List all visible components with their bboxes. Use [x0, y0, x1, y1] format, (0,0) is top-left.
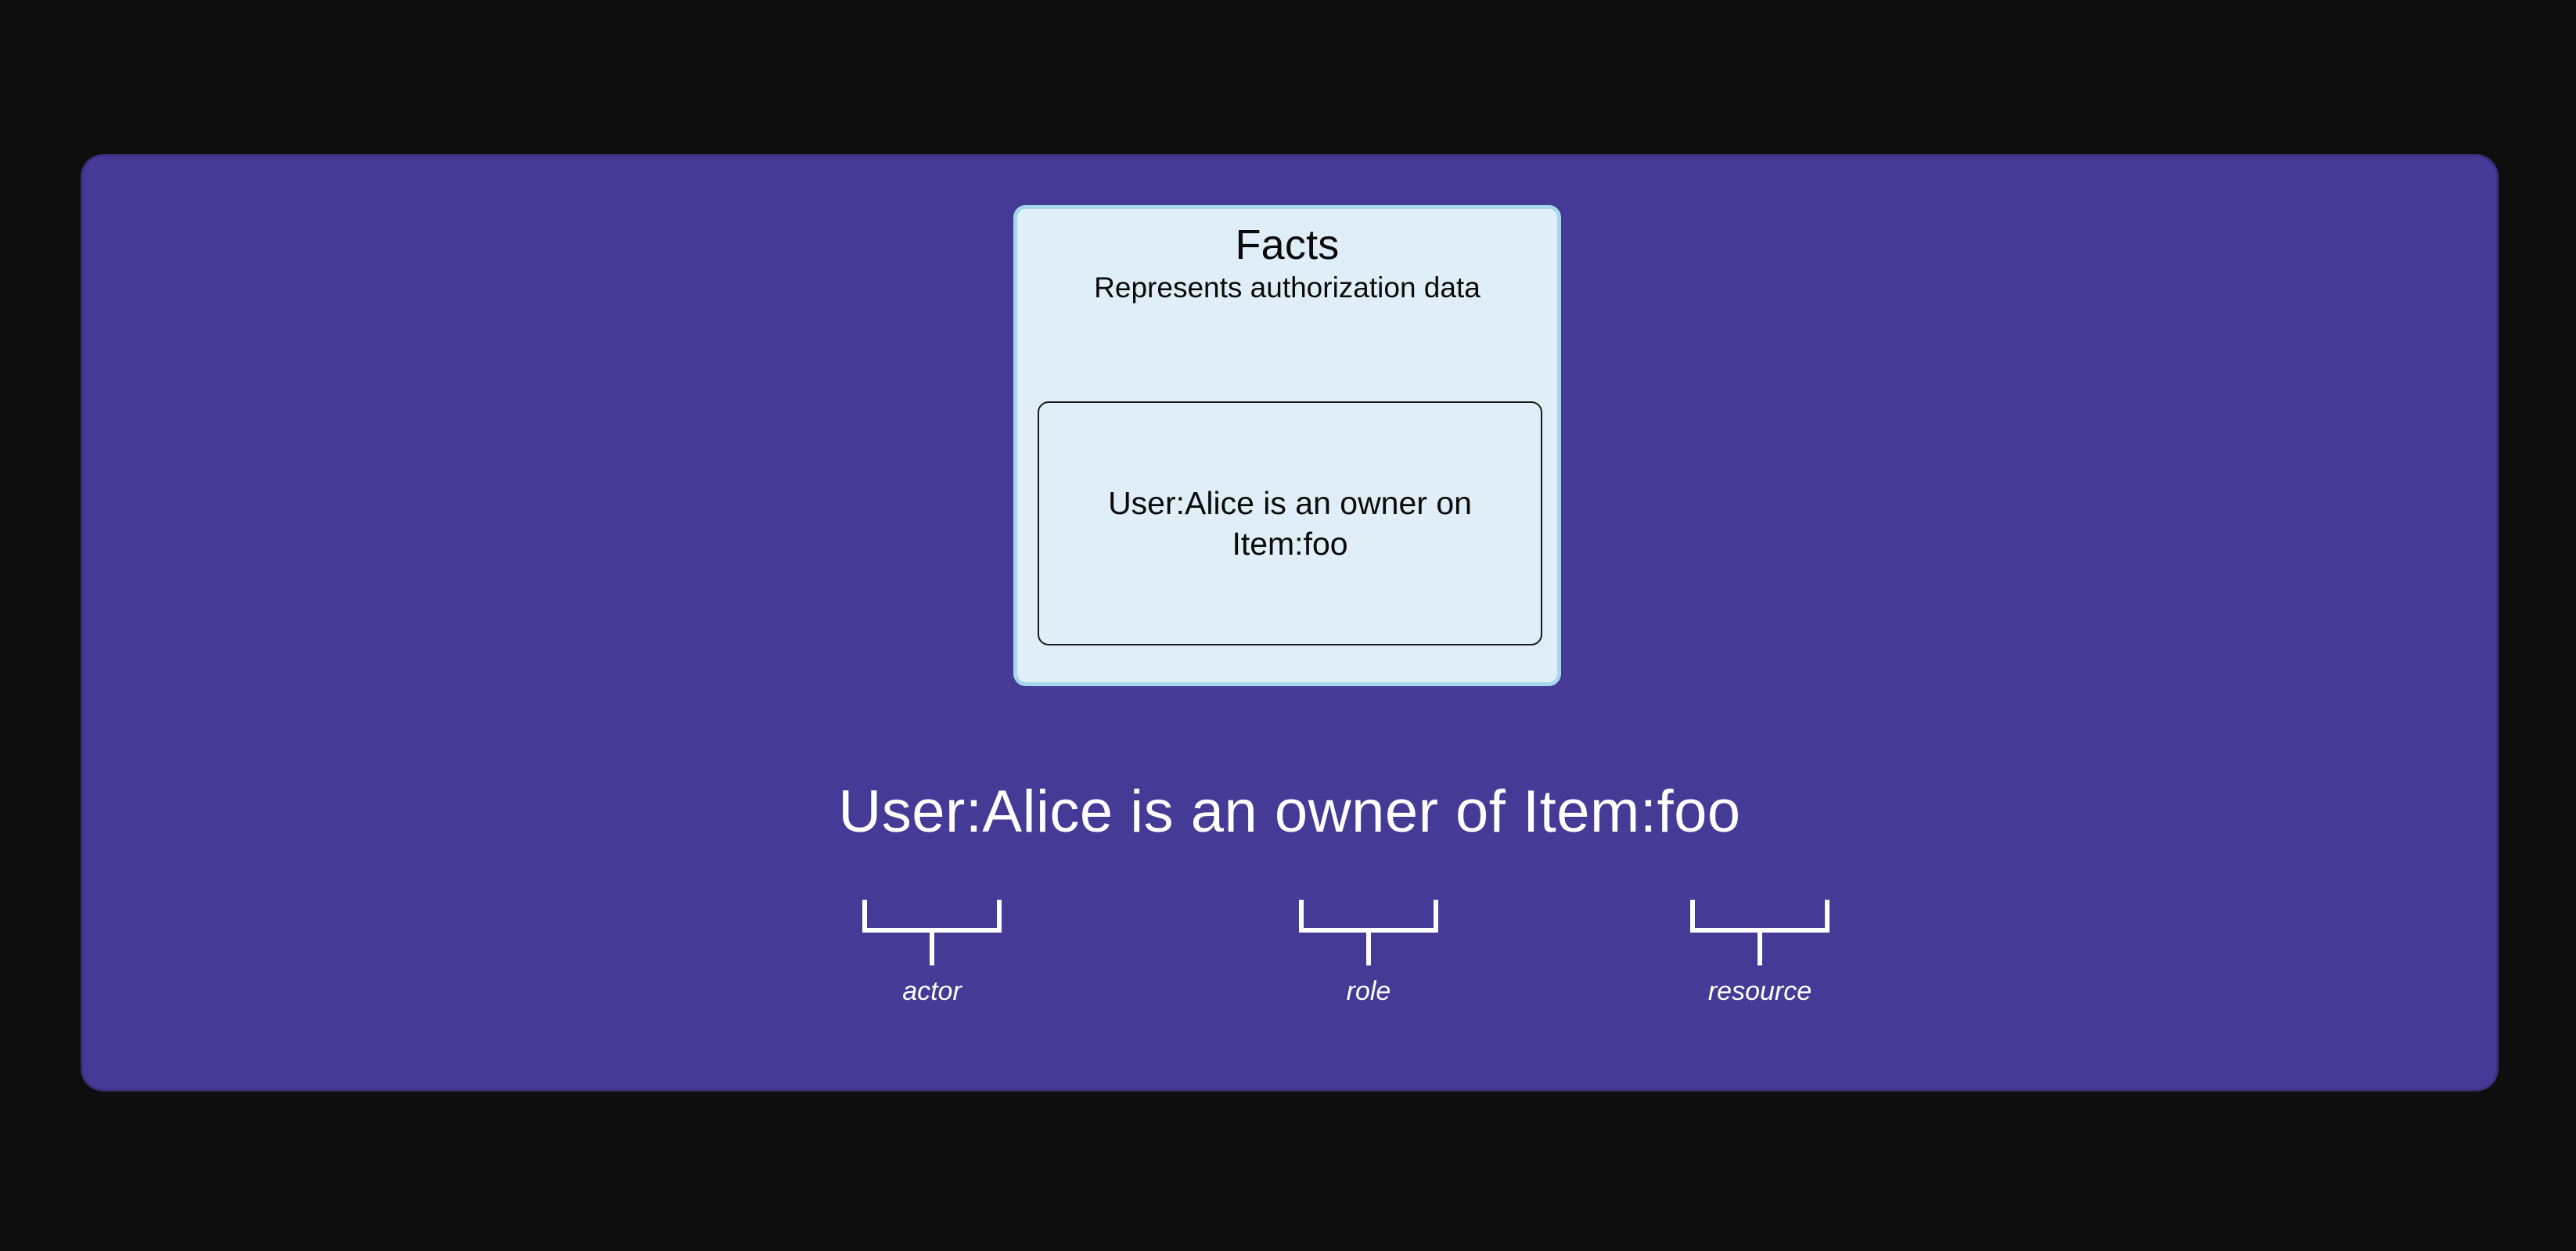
fact-example-box: User:Alice is an owner on Item:foo: [1038, 401, 1542, 645]
annotation-resource: resource: [1690, 900, 1829, 1005]
annotated-sentence: User:Alice is an owner of Item:foo: [83, 782, 2496, 842]
diagram-canvas: Facts Represents authorization data User…: [0, 0, 2576, 1251]
annotation-label-role: role: [1299, 978, 1438, 1005]
fact-example-text: User:Alice is an owner on Item:foo: [1106, 483, 1474, 565]
bracket-stem: [1758, 933, 1762, 965]
annotation-label-resource: resource: [1690, 978, 1829, 1005]
facts-card: Facts Represents authorization data User…: [1013, 205, 1561, 686]
facts-card-subtitle: Represents authorization data: [1094, 272, 1480, 304]
facts-card-title: Facts: [1235, 223, 1339, 268]
bracket-down-icon: [1690, 900, 1829, 965]
bracket-down-icon: [862, 900, 1002, 965]
bracket-stem: [1366, 933, 1371, 965]
annotation-label-actor: actor: [862, 978, 1002, 1005]
bracket-down-icon: [1299, 900, 1438, 965]
bracket-stem: [930, 933, 934, 965]
annotation-role: role: [1299, 900, 1438, 1005]
purple-panel: Facts Represents authorization data User…: [83, 156, 2496, 1089]
annotation-actor: actor: [862, 900, 1002, 1005]
